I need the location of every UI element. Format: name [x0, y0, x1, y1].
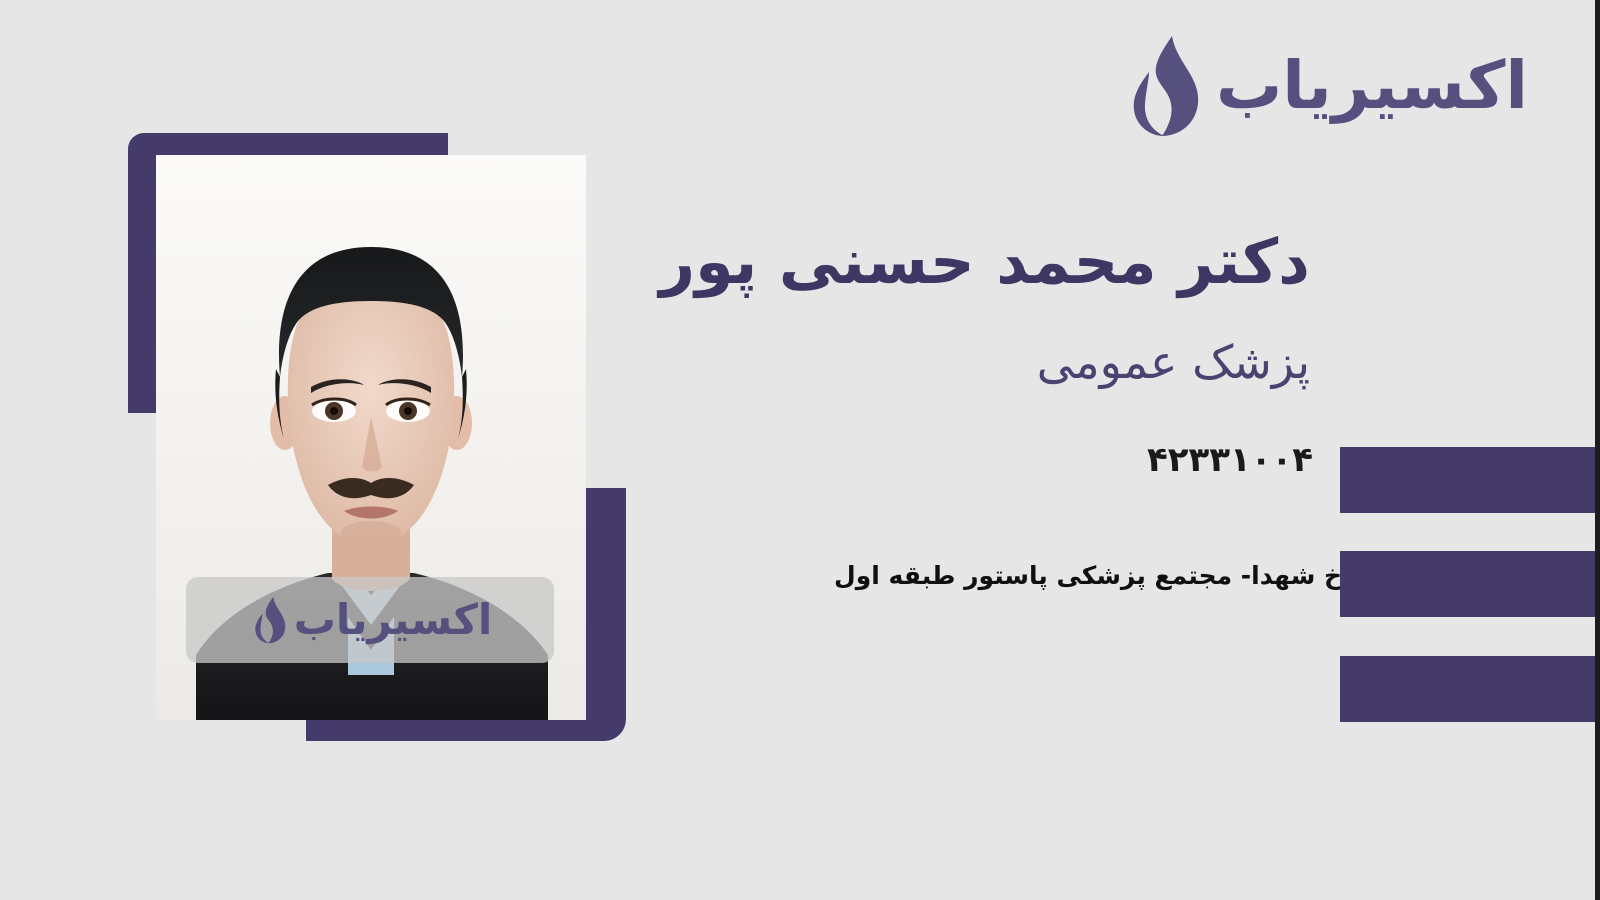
- flame-droplet-icon: [1118, 34, 1204, 138]
- doctor-profile-card: اکسیریاب: [0, 0, 1600, 900]
- brand-logo[interactable]: اکسیریاب: [1118, 34, 1528, 138]
- flame-droplet-icon: [248, 592, 288, 648]
- decor-bar-3: [1340, 656, 1595, 722]
- right-edge-rule: [1595, 0, 1600, 900]
- decor-bar-2: [1340, 551, 1595, 617]
- decor-bar-1: [1340, 447, 1595, 513]
- watermark-text: اکسیریاب: [294, 599, 493, 641]
- photo-block: اکسیریاب: [128, 133, 626, 741]
- doctor-phone[interactable]: ۴۲۳۳۱۰۰۴: [1147, 440, 1313, 481]
- doctor-name: دکتر محمد حسنی پور: [659, 228, 1310, 296]
- doctor-specialty: پزشک عمومی: [1037, 336, 1310, 389]
- photo-watermark: اکسیریاب: [186, 577, 554, 663]
- brand-name: اکسیریاب: [1216, 53, 1528, 119]
- doctor-address: خ شهدا- مجتمع پزشکی پاستور طبقه اول: [834, 560, 1342, 593]
